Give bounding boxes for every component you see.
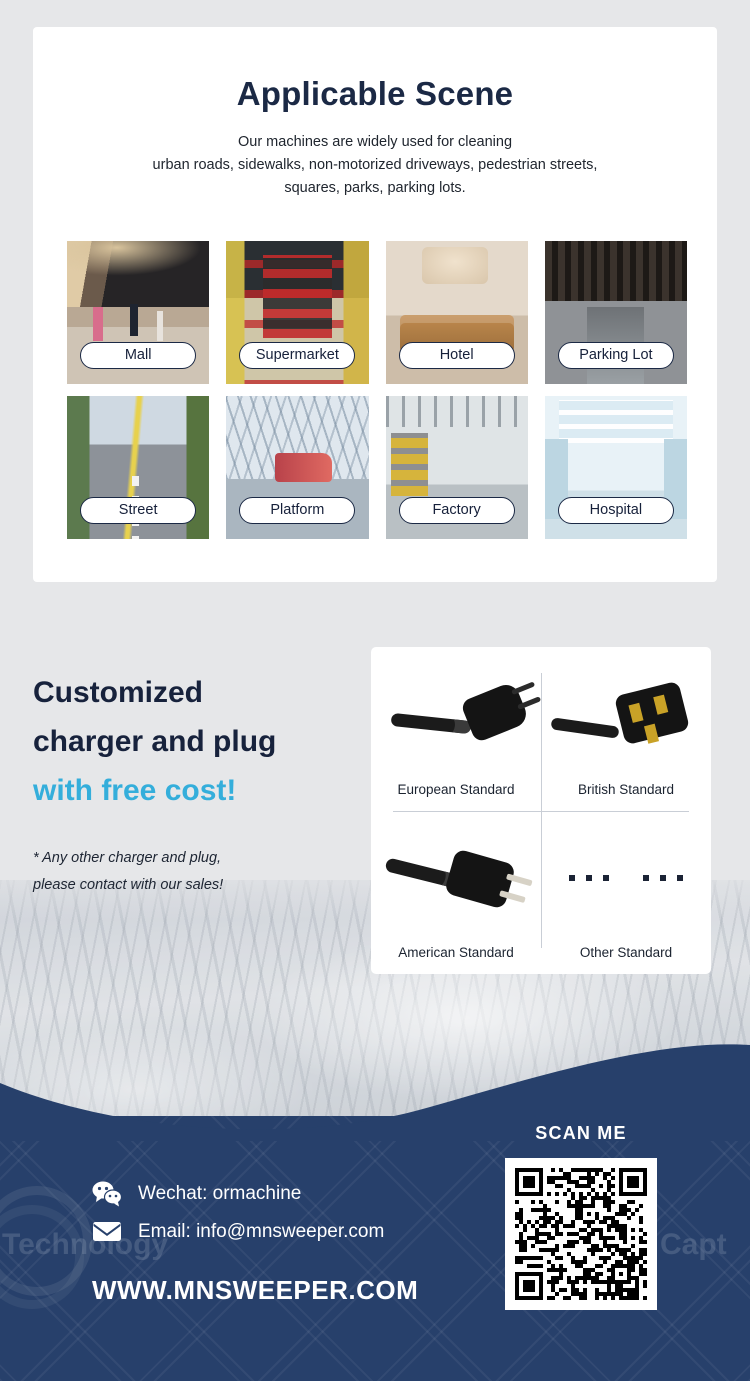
scene-tile-platform[interactable]: Platform (226, 396, 368, 539)
scan-me-block: SCAN ME (505, 1123, 657, 1310)
customized-heading: Customized charger and plug with free co… (33, 668, 353, 815)
contact-row-wechat[interactable]: Wechat: ormachine (92, 1181, 384, 1207)
plug-cell-european[interactable]: European Standard (371, 647, 541, 811)
wechat-icon (92, 1181, 122, 1207)
qr-code-icon (515, 1168, 647, 1300)
customized-heading-line2: charger and plug (33, 725, 276, 758)
plug-standards-grid: European Standard British Standard Ameri… (371, 647, 711, 974)
plug-cell-other[interactable]: Other Standard (541, 811, 711, 975)
scene-tile-label: Street (80, 497, 196, 524)
scene-tile-row: Mall Supermarket Hotel Parking Lot (67, 241, 687, 384)
british-plug-image (541, 657, 711, 777)
scene-tile-street[interactable]: Street (67, 396, 209, 539)
website-url[interactable]: WWW.MNSWEEPER.COM (92, 1275, 418, 1306)
scene-tile-hospital[interactable]: Hospital (545, 396, 687, 539)
scene-tile-grid: Mall Supermarket Hotel Parking Lot Stree… (67, 241, 687, 539)
scene-tile-row: Street Platform Factory Hospital (67, 396, 687, 539)
plug-body (460, 681, 530, 744)
scene-tile-label: Supermarket (239, 342, 355, 369)
scene-tile-label: Parking Lot (558, 342, 674, 369)
customized-heading-line1: Customized (33, 676, 203, 709)
contact-info: Wechat: ormachine Email: info@mnsweeper.… (92, 1181, 384, 1256)
scene-tile-hotel[interactable]: Hotel (386, 241, 528, 384)
customized-note-line2: please contact with our sales! (33, 872, 353, 899)
customized-charger-section: Customized charger and plug with free co… (33, 668, 353, 899)
email-text: Email: info@mnsweeper.com (138, 1221, 384, 1243)
scene-subtitle-line: squares, parks, parking lots. (284, 180, 465, 196)
scene-tile-parking-lot[interactable]: Parking Lot (545, 241, 687, 384)
scene-tile-label: Platform (239, 497, 355, 524)
plug-cord (551, 717, 620, 738)
envelope-icon (92, 1220, 122, 1243)
plug-cord (391, 713, 472, 734)
other-standard-placeholder (541, 821, 711, 941)
scene-tile-label: Hotel (399, 342, 515, 369)
ellipsis-dots-icon (541, 875, 711, 881)
contact-row-email[interactable]: Email: info@mnsweeper.com (92, 1220, 384, 1243)
scene-subtitle: Our machines are widely used for cleanin… (75, 131, 675, 200)
european-plug-image (371, 657, 541, 777)
scene-tile-label: Hospital (558, 497, 674, 524)
scene-subtitle-line: Our machines are widely used for cleanin… (238, 134, 512, 150)
plug-standards-card: European Standard British Standard Ameri… (371, 647, 711, 974)
applicable-scene-card: Applicable Scene Our machines are widely… (33, 27, 717, 582)
plug-cell-american[interactable]: American Standard (371, 811, 541, 975)
customized-note-line1: * Any other charger and plug, (33, 845, 353, 872)
wechat-text: Wechat: ormachine (138, 1183, 301, 1205)
plug-label: British Standard (578, 782, 674, 797)
customized-note: * Any other charger and plug, please con… (33, 845, 353, 899)
plug-label: European Standard (397, 782, 514, 797)
qr-code-container[interactable] (505, 1158, 657, 1310)
page-title: Applicable Scene (33, 27, 717, 113)
plug-cell-british[interactable]: British Standard (541, 647, 711, 811)
scene-subtitle-line: urban roads, sidewalks, non-motorized dr… (153, 157, 598, 173)
customized-heading-accent: with free cost! (33, 774, 236, 807)
scene-tile-supermarket[interactable]: Supermarket (226, 241, 368, 384)
american-plug-image (371, 821, 541, 941)
scene-tile-factory[interactable]: Factory (386, 396, 528, 539)
scene-tile-label: Factory (399, 497, 515, 524)
plug-grid-horizontal-divider (393, 811, 689, 812)
scan-me-label: SCAN ME (505, 1123, 657, 1144)
plug-label: American Standard (398, 945, 514, 960)
plug-label: Other Standard (580, 945, 672, 960)
scene-tile-mall[interactable]: Mall (67, 241, 209, 384)
plug-body (614, 681, 690, 745)
scene-tile-label: Mall (80, 342, 196, 369)
plug-body (444, 849, 516, 910)
